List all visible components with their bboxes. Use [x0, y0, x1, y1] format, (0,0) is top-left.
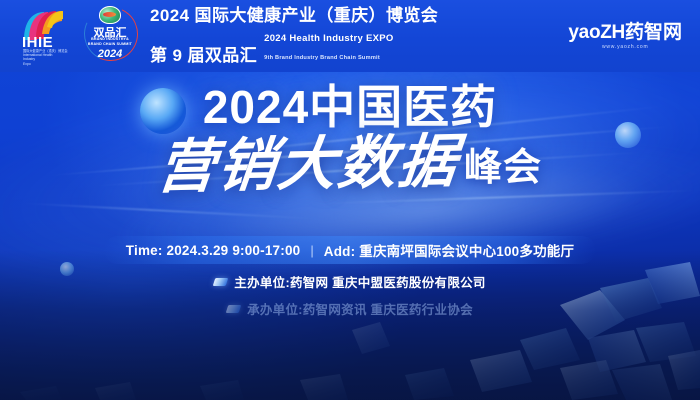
- event-address: Add: 重庆南坪国际会议中心100多功能厅: [324, 240, 574, 260]
- bullet-mark-icon: [226, 305, 242, 313]
- header-title-line1: 2024 国际大健康产业（重庆）博览会: [150, 6, 568, 26]
- main-title-calligraphy: 营销大数据: [155, 131, 462, 198]
- header-bar: IHIE 国际大健康产业（重庆）博览会 International Health…: [0, 0, 700, 72]
- event-time: Time: 2024.3.29 9:00-17:00: [126, 243, 301, 258]
- yaozh-cn: 药智网: [625, 22, 682, 43]
- header-subtitle-en: 2024 Health Industry EXPO 9th Brand Indu…: [264, 28, 393, 66]
- main-title-line1: 2024中国医药: [0, 84, 700, 130]
- header-title-line2: 第 9 届双品汇: [150, 47, 257, 66]
- logo-summit[interactable]: 双品汇 BRAND INDUSTRY&BRAND CHAIN SUMMIT 20…: [82, 5, 138, 67]
- globe-badge-icon: [99, 6, 121, 24]
- info-separator: |: [310, 243, 313, 258]
- organizer-row-secondary: 承办单位:药智网资讯 重庆医药行业协会: [0, 299, 700, 318]
- main-title-tail: 峰会: [464, 149, 542, 187]
- address-label: Add:: [324, 244, 356, 259]
- organizer-text: 主办单位:药智网 重庆中盟医药股份有限公司: [234, 272, 485, 291]
- conference-poster: IHIE 国际大健康产业（重庆）博览会 International Health…: [0, 0, 700, 400]
- bullet-mark-icon: [213, 278, 229, 286]
- ihie-wordmark: IHIE: [22, 35, 53, 50]
- logo-yaozh[interactable]: yaoZH药智网 www.yaozh.com: [568, 23, 682, 50]
- organizer-row-primary: 主办单位:药智网 重庆中盟医药股份有限公司: [0, 272, 700, 291]
- header-title-block: 2024 国际大健康产业（重庆）博览会 第 9 届双品汇 2024 Health…: [150, 6, 568, 65]
- organizer-text: 承办单位:药智网资讯 重庆医药行业协会: [247, 299, 473, 318]
- header-en-line1: 2024 Health Industry EXPO: [264, 33, 393, 44]
- time-label: Time:: [126, 243, 163, 258]
- header-en-line2: 9th Brand Industry Brand Chain Summit: [264, 55, 380, 61]
- logo-ihie[interactable]: IHIE 国际大健康产业（重庆）博览会 International Health…: [14, 8, 72, 64]
- summit-year: 2024: [82, 48, 138, 60]
- time-value: 2024.3.29 9:00-17:00: [167, 243, 301, 258]
- event-info-bar: Time: 2024.3.29 9:00-17:00 | Add: 重庆南坪国际…: [104, 236, 596, 264]
- main-title-block: 2024中国医药 营销大数据 峰会: [0, 84, 700, 195]
- light-ribbon-decor: [20, 202, 320, 219]
- summit-en-name: BRAND INDUSTRY&BRAND CHAIN SUMMIT: [82, 37, 138, 48]
- yaozh-wordmark: yaoZH药智网: [568, 23, 682, 42]
- address-value: 重庆南坪国际会议中心100多功能厅: [359, 244, 574, 259]
- yaozh-url: www.yaozh.com: [568, 44, 682, 50]
- yaozh-latin: yaoZH: [568, 22, 625, 43]
- ihie-en-subtitle: International HealthIndustryExpo: [23, 53, 52, 66]
